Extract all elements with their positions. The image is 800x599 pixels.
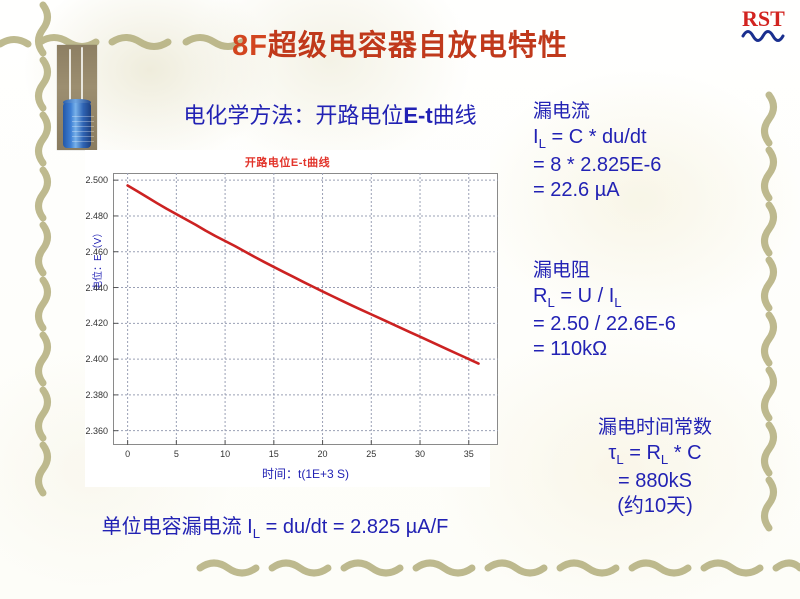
y-tick-label: 2.380 [85,390,108,400]
unit-leakage-note-post: = du/dt = 2.825 µA/F [260,516,448,538]
il-subscript: L [539,136,546,151]
y-tick-label: 2.360 [85,426,108,436]
tau-subscript: L [616,452,623,467]
x-tick-label: 15 [269,449,279,459]
chart-plot-area: 电位：E（V） 时间：t(1E+3 S) 2.3602.3802.4002.42… [113,173,498,445]
leakage-resistance-line-2: = 2.50 / 22.6E-6 [533,312,676,338]
leakage-time-constant-block: 漏电时间常数 τL = RL * C = 880kS (约10天) [540,412,770,520]
capacitor-label-markings [72,112,94,142]
rl-subscript: L [547,295,554,310]
unit-leakage-note-sub: L [253,526,260,541]
rl-expression-subscript: L [614,295,621,310]
page-title: 8F超级电容器自放电特性 [0,22,800,64]
subtitle-left: 电化学方法：开路电位 [183,103,403,128]
leakage-current-block: 漏电流 IL = C * du/dt = 8 * 2.825E-6 = 22.6… [533,96,661,204]
leakage-resistance-block: 漏电阻 RL = U / IL = 2.50 / 22.6E-6 = 110kΩ [533,255,676,363]
y-tick-label: 2.480 [85,211,108,221]
x-tick-label: 5 [174,449,179,459]
unit-leakage-note-pre: 单位电容漏电流 I [102,516,253,538]
leakage-resistance-line-3: = 110kΩ [533,337,676,363]
page-title-main: 超级电容器自放电特性 [268,30,568,62]
leakage-time-constant-line-1: τL = RL * C [540,441,770,469]
tau-expression: = R [624,442,661,464]
leakage-current-line-3: = 22.6 µA [533,178,661,204]
slide-canvas: RST 8F超级电容器自放电特性 电化学方法：开路电位E-t曲线 开路电位E-t… [0,0,800,599]
leakage-resistance-line-1: RL = U / IL [533,284,676,312]
x-tick-label: 0 [125,449,130,459]
leakage-time-constant-line-2: = 880kS [540,469,770,495]
x-tick-label: 20 [318,449,328,459]
leakage-current-heading: 漏电流 [533,96,661,123]
y-tick-label: 2.420 [85,318,108,328]
y-tick-label: 2.500 [85,175,108,185]
leakage-time-constant-heading: 漏电时间常数 [540,412,770,439]
chart-title: 开路电位E-t曲线 [85,154,490,170]
x-axis-label: 时间：t(1E+3 S) [113,465,498,482]
x-tick-label: 30 [415,449,425,459]
leakage-current-line-2: = 8 * 2.825E-6 [533,153,661,179]
il-expression: = C * du/dt [546,126,647,148]
chart-panel: 开路电位E-t曲线 电位：E（V） 时间：t(1E+3 S) 2.3602.38… [85,150,490,487]
subtitle-right: 曲线 [433,103,477,128]
x-tick-label: 35 [464,449,474,459]
x-tick-label: 25 [366,449,376,459]
unit-leakage-note: 单位电容漏电流 IL = du/dt = 2.825 µA/F [40,510,510,541]
subtitle-latin: E-t [403,103,432,128]
y-tick-label: 2.460 [85,247,108,257]
tau-expression-tail: * C [668,442,701,464]
leakage-resistance-heading: 漏电阻 [533,255,676,282]
leakage-current-line-1: IL = C * du/dt [533,125,661,153]
chart-grid-and-series [113,173,498,445]
x-tick-label: 10 [220,449,230,459]
y-tick-label: 2.400 [85,354,108,364]
y-axis-label: 电位：E（V） [89,228,104,291]
rl-expression: = U / I [555,285,614,307]
subtitle: 电化学方法：开路电位E-t曲线 [120,98,540,130]
leakage-time-constant-line-3: (约10天) [540,494,770,520]
capacitor-body [63,103,91,148]
y-tick-label: 2.440 [85,283,108,293]
rl-symbol: R [533,285,547,307]
page-title-prefix: 8F [232,30,268,62]
